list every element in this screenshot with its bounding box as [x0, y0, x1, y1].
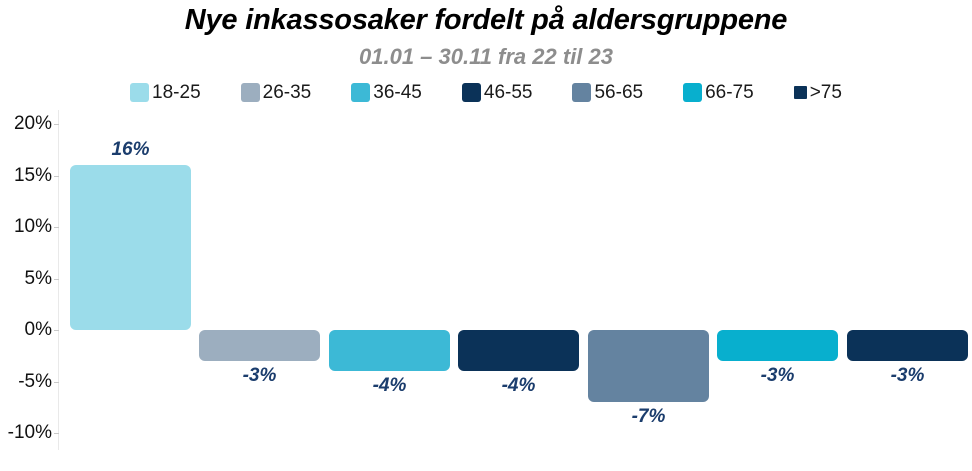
bar-data-label: 16%	[70, 140, 191, 160]
bar-data-label: -4%	[458, 376, 579, 396]
bar-3645[interactable]	[329, 330, 450, 371]
legend-swatch-icon	[572, 83, 591, 102]
legend-item-label: 66-75	[705, 83, 754, 102]
y-axis-tick-label: 10%	[2, 217, 52, 236]
y-axis-tick-mark	[54, 382, 59, 383]
y-axis-tick-label: 5%	[2, 269, 52, 288]
legend-item-label: 36-45	[373, 83, 422, 102]
legend-item-label: 56-65	[594, 83, 643, 102]
chart-title: Nye inkassosaker fordelt på aldersgruppe…	[0, 4, 972, 37]
legend-item-label: 18-25	[152, 83, 201, 102]
legend-item-6675[interactable]: 66-75	[683, 83, 754, 102]
y-axis-tick-label: -5%	[2, 372, 52, 391]
bar-5665[interactable]	[588, 330, 709, 402]
y-axis-line	[58, 110, 59, 450]
plot-area: 20%15%10%5%0%-5%-10%16%-3%-4%-4%-7%-3%-3…	[58, 110, 964, 455]
legend-swatch-icon	[351, 83, 370, 102]
bar-data-label: -3%	[199, 366, 320, 386]
y-axis-tick-label: 0%	[2, 320, 52, 339]
bar-6675[interactable]	[717, 330, 838, 361]
chart-subtitle: 01.01 – 30.11 fra 22 til 23	[0, 44, 972, 70]
y-axis-tick-mark	[54, 176, 59, 177]
legend-item-75[interactable]: >75	[794, 83, 842, 102]
y-axis-tick-mark	[54, 124, 59, 125]
legend-item-label: 46-55	[484, 83, 533, 102]
bar-data-label: -7%	[588, 407, 709, 427]
legend-swatch-icon	[241, 83, 260, 102]
y-axis-tick-label: 20%	[2, 114, 52, 133]
chart-container: Nye inkassosaker fordelt på aldersgruppe…	[0, 0, 972, 471]
legend-item-1825[interactable]: 18-25	[130, 83, 201, 102]
legend-item-4655[interactable]: 46-55	[462, 83, 533, 102]
y-axis-tick-mark	[54, 279, 59, 280]
y-axis-tick-mark	[54, 227, 59, 228]
y-axis-tick-label: 15%	[2, 166, 52, 185]
bar-4655[interactable]	[458, 330, 579, 371]
y-axis-tick-label: -10%	[2, 423, 52, 442]
bar-data-label: -3%	[717, 366, 838, 386]
y-axis-tick-mark	[54, 330, 59, 331]
legend-swatch-icon	[683, 83, 702, 102]
bar-75[interactable]	[847, 330, 968, 361]
legend-item-5665[interactable]: 56-65	[572, 83, 643, 102]
bar-2635[interactable]	[199, 330, 320, 361]
bar-1825[interactable]	[70, 165, 191, 330]
legend-item-label: >75	[810, 83, 842, 102]
legend-item-3645[interactable]: 36-45	[351, 83, 422, 102]
bar-data-label: -3%	[847, 366, 968, 386]
legend-item-2635[interactable]: 26-35	[241, 83, 312, 102]
chart-legend: 18-2526-3536-4546-5556-6566-75>75	[0, 80, 972, 104]
legend-item-label: 26-35	[263, 83, 312, 102]
legend-swatch-icon	[462, 83, 481, 102]
y-axis-tick-mark	[54, 433, 59, 434]
legend-swatch-icon	[130, 83, 149, 102]
bar-data-label: -4%	[329, 376, 450, 396]
legend-swatch-icon	[794, 86, 807, 99]
